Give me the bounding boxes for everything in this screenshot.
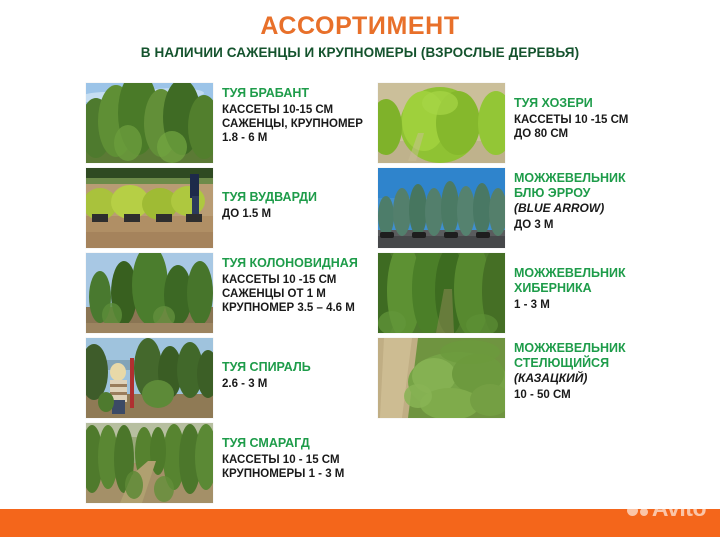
thuja-spiral-icon <box>86 338 213 418</box>
plant-name: ТУЯ ВУДВАРДИ <box>222 190 372 205</box>
page-subtitle: В НАЛИЧИИ САЖЕНЦЫ И КРУПНОМЕРЫ (ВЗРОСЛЫЕ… <box>0 44 720 61</box>
plant-info: ТУЯ СМАРАГД КАССЕТЫ 10 - 15 СМ КРУПНОМЕР… <box>222 436 372 481</box>
thuja-brabant-icon <box>86 83 213 163</box>
list-item: ТУЯ ХОЗЕРИ КАССЕТЫ 10 -15 СМ ДО 80 СМ <box>378 83 658 168</box>
list-item: МОЖЖЕВЕЛЬНИК ХИБЕРНИКА 1 - 3 М <box>378 253 658 338</box>
plant-info: ТУЯ БРАБАНТ КАССЕТЫ 10-15 СМ САЖЕНЦЫ, КР… <box>222 86 372 145</box>
plant-photo <box>378 253 505 333</box>
plant-specs: КАССЕТЫ 10-15 СМ САЖЕНЦЫ, КРУПНОМЕР 1.8 … <box>222 103 372 145</box>
thuja-smaragd-icon <box>86 423 213 503</box>
plant-info: МОЖЖЕВЕЛЬНИК СТЕЛЮЩИЙСЯ (КАЗАЦКИЙ) 10 - … <box>514 341 664 402</box>
plant-name: ТУЯ СПИРАЛЬ <box>222 360 372 375</box>
plant-specs: КАССЕТЫ 10 -15 СМ ДО 80 СМ <box>514 113 664 141</box>
list-item: МОЖЖЕВЕЛЬНИК БЛЮ ЭРРОУ (BLUE ARROW) ДО 3… <box>378 168 658 253</box>
plant-specs: 10 - 50 СМ <box>514 388 664 402</box>
list-item: ТУЯ СМАРАГД КАССЕТЫ 10 - 15 СМ КРУПНОМЕР… <box>86 423 366 508</box>
plant-photo <box>86 423 213 503</box>
right-column: ТУЯ ХОЗЕРИ КАССЕТЫ 10 -15 СМ ДО 80 СМ <box>378 83 658 423</box>
list-item: ТУЯ КОЛОНОВИДНАЯ КАССЕТЫ 10 -15 СМ САЖЕН… <box>86 253 366 338</box>
plant-info: МОЖЖЕВЕЛЬНИК ХИБЕРНИКА 1 - 3 М <box>514 266 664 312</box>
assortment-poster: АССОРТИМЕНТ В НАЛИЧИИ САЖЕНЦЫ И КРУПНОМЕ… <box>0 0 720 537</box>
list-item: ТУЯ ВУДВАРДИ ДО 1.5 М <box>86 168 366 253</box>
list-item: МОЖЖЕВЕЛЬНИК СТЕЛЮЩИЙСЯ (КАЗАЦКИЙ) 10 - … <box>378 338 658 423</box>
plant-photo <box>378 168 505 248</box>
plant-photo <box>86 253 213 333</box>
plant-latin-name: (BLUE ARROW) <box>514 201 664 216</box>
plant-info: ТУЯ КОЛОНОВИДНАЯ КАССЕТЫ 10 -15 СМ САЖЕН… <box>222 256 372 315</box>
plant-info: ТУЯ ХОЗЕРИ КАССЕТЫ 10 -15 СМ ДО 80 СМ <box>514 96 664 141</box>
plant-specs: 1 - 3 М <box>514 298 664 312</box>
plant-name: МОЖЖЕВЕЛЬНИК БЛЮ ЭРРОУ <box>514 171 664 201</box>
thuja-woodwardii-icon <box>86 168 213 248</box>
juniper-blue-arrow-icon <box>378 168 505 248</box>
plant-photo <box>86 168 213 248</box>
plant-name: ТУЯ ХОЗЕРИ <box>514 96 664 111</box>
plant-photo <box>86 338 213 418</box>
plant-name: ТУЯ КОЛОНОВИДНАЯ <box>222 256 372 271</box>
plant-name: ТУЯ СМАРАГД <box>222 436 372 451</box>
poster-header: АССОРТИМЕНТ В НАЛИЧИИ САЖЕНЦЫ И КРУПНОМЕ… <box>0 12 720 61</box>
plant-photo <box>86 83 213 163</box>
plant-name: ТУЯ БРАБАНТ <box>222 86 372 101</box>
plant-specs: КАССЕТЫ 10 - 15 СМ КРУПНОМЕРЫ 1 - 3 М <box>222 453 372 481</box>
plant-specs: ДО 3 М <box>514 218 664 232</box>
plant-info: МОЖЖЕВЕЛЬНИК БЛЮ ЭРРОУ (BLUE ARROW) ДО 3… <box>514 171 664 232</box>
thuja-hoseri-icon <box>378 83 505 163</box>
thuja-columnar-icon <box>86 253 213 333</box>
juniper-hibernica-icon <box>378 253 505 333</box>
plant-info: ТУЯ ВУДВАРДИ ДО 1.5 М <box>222 190 372 221</box>
plant-name: МОЖЖЕВЕЛЬНИК ХИБЕРНИКА <box>514 266 664 296</box>
plant-specs: ДО 1.5 М <box>222 207 372 221</box>
left-column: ТУЯ БРАБАНТ КАССЕТЫ 10-15 СМ САЖЕНЦЫ, КР… <box>86 83 366 508</box>
plant-photo <box>378 338 505 418</box>
list-item: ТУЯ СПИРАЛЬ 2.6 - 3 М <box>86 338 366 423</box>
bottom-orange-bar <box>0 509 720 537</box>
juniper-sabina-icon <box>378 338 505 418</box>
plant-specs: КАССЕТЫ 10 -15 СМ САЖЕНЦЫ ОТ 1 М КРУПНОМ… <box>222 273 372 315</box>
page-title: АССОРТИМЕНТ <box>0 12 720 40</box>
list-item: ТУЯ БРАБАНТ КАССЕТЫ 10-15 СМ САЖЕНЦЫ, КР… <box>86 83 366 168</box>
plant-photo <box>378 83 505 163</box>
plant-name: МОЖЖЕВЕЛЬНИК СТЕЛЮЩИЙСЯ <box>514 341 664 371</box>
plant-specs: 2.6 - 3 М <box>222 377 372 391</box>
plant-latin-name: (КАЗАЦКИЙ) <box>514 371 664 386</box>
plant-info: ТУЯ СПИРАЛЬ 2.6 - 3 М <box>222 360 372 391</box>
